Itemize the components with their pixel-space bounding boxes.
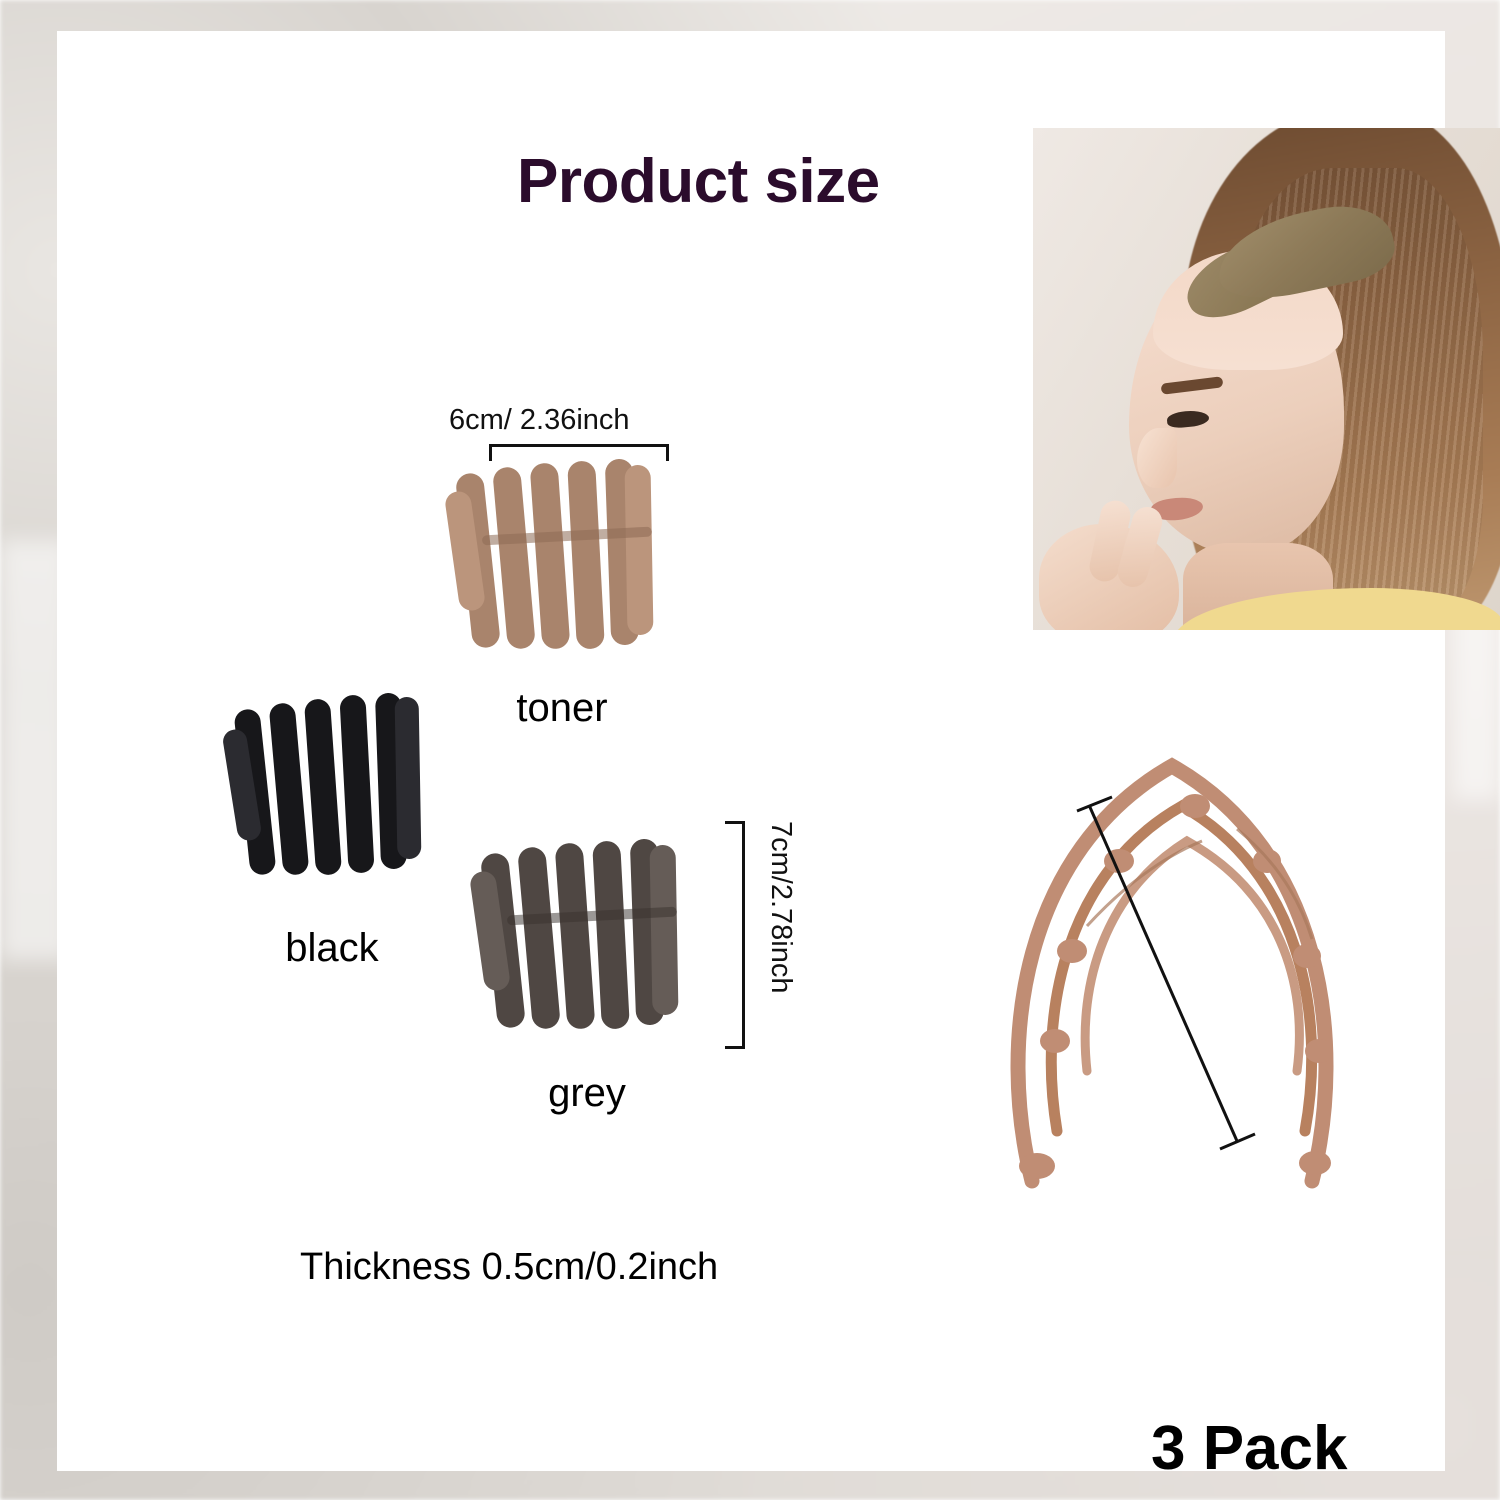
grey-clip-graphic — [437, 811, 737, 1071]
height-dimension-label: 7cm/2.78inch — [751, 821, 797, 994]
black-label: black — [202, 926, 462, 971]
toner-clip-graphic — [412, 431, 712, 691]
black-clip-graphic — [202, 671, 462, 901]
model-photo — [1033, 128, 1500, 630]
pack-count-label: 3 Pack — [1151, 1413, 1348, 1484]
page-title: Product size — [517, 146, 880, 217]
white-card: Product size 6cm/ 2.36inch 7cm/2.78inch — [57, 31, 1445, 1471]
grey-label: grey — [437, 1071, 737, 1116]
headband-product: 13.5cm/ 5.3inch — [937, 711, 1407, 1211]
nose — [1137, 428, 1177, 488]
product-size-infographic: Product size 6cm/ 2.36inch 7cm/2.78inch — [0, 0, 1500, 1500]
thickness-label: Thickness 0.5cm/0.2inch — [300, 1246, 718, 1289]
headband-graphic — [937, 711, 1407, 1211]
